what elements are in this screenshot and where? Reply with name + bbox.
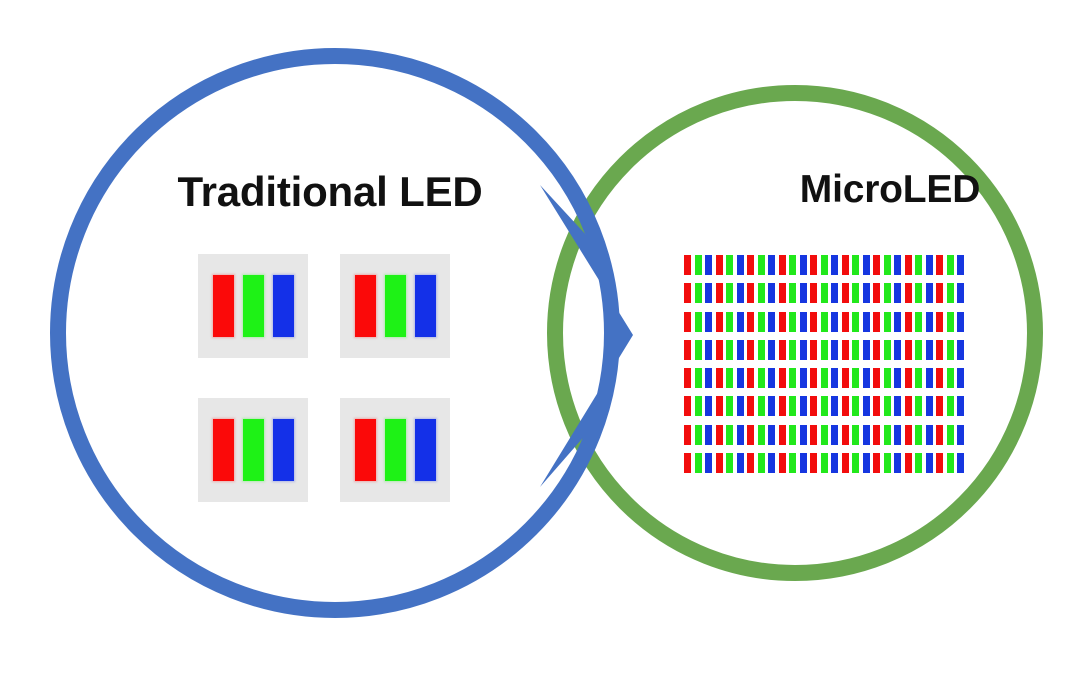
green-subpixel bbox=[852, 312, 859, 332]
red-subpixel bbox=[779, 340, 786, 360]
red-subpixel bbox=[779, 453, 786, 473]
red-subpixel bbox=[716, 425, 723, 445]
blue-subpixel bbox=[768, 425, 775, 445]
green-subpixel bbox=[726, 425, 733, 445]
microled-row bbox=[684, 312, 964, 332]
green-subpixel bbox=[821, 453, 828, 473]
microled-row bbox=[684, 368, 964, 388]
blue-subpixel bbox=[926, 453, 933, 473]
red-subpixel bbox=[873, 255, 880, 275]
blue-subpixel bbox=[863, 312, 870, 332]
pixel-block bbox=[198, 398, 308, 502]
blue-subpixel bbox=[863, 396, 870, 416]
red-subpixel bbox=[684, 312, 691, 332]
green-subpixel bbox=[758, 396, 765, 416]
blue-subpixel bbox=[863, 453, 870, 473]
blue-subpixel bbox=[957, 340, 964, 360]
red-subpixel bbox=[779, 255, 786, 275]
green-subpixel bbox=[947, 368, 954, 388]
blue-subpixel bbox=[800, 255, 807, 275]
blue-subpixel bbox=[705, 340, 712, 360]
blue-subpixel bbox=[768, 312, 775, 332]
red-subpixel bbox=[684, 255, 691, 275]
blue-subpixel bbox=[737, 340, 744, 360]
blue-subpixel bbox=[800, 283, 807, 303]
red-subpixel bbox=[684, 396, 691, 416]
green-subpixel bbox=[789, 312, 796, 332]
green-subpixel bbox=[695, 425, 702, 445]
green-subpixel bbox=[915, 453, 922, 473]
blue-subpixel bbox=[705, 453, 712, 473]
green-subpixel bbox=[758, 453, 765, 473]
green-subpixel bbox=[915, 312, 922, 332]
green-subpixel bbox=[726, 283, 733, 303]
red-subpixel bbox=[905, 312, 912, 332]
green-subpixel bbox=[789, 368, 796, 388]
green-subpixel bbox=[758, 312, 765, 332]
blue-subpixel bbox=[831, 396, 838, 416]
green-subpixel bbox=[852, 425, 859, 445]
green-subpixel bbox=[915, 340, 922, 360]
green-subpixel bbox=[947, 255, 954, 275]
blue-subpixel bbox=[705, 255, 712, 275]
blue-subpixel bbox=[926, 340, 933, 360]
green-subpixel bbox=[915, 255, 922, 275]
blue-subpixel bbox=[957, 425, 964, 445]
red-subpixel bbox=[905, 255, 912, 275]
blue-subpixel bbox=[705, 396, 712, 416]
red-subpixel bbox=[936, 425, 943, 445]
red-subpixel bbox=[936, 396, 943, 416]
green-subpixel bbox=[758, 255, 765, 275]
blue-subpixel bbox=[863, 255, 870, 275]
red-subpixel bbox=[684, 425, 691, 445]
red-subpixel bbox=[936, 368, 943, 388]
blue-subpixel bbox=[831, 255, 838, 275]
red-subpixel bbox=[873, 312, 880, 332]
red-subpixel bbox=[905, 396, 912, 416]
red-subpixel bbox=[716, 283, 723, 303]
pixel-block bbox=[198, 254, 308, 358]
red-subpixel bbox=[936, 283, 943, 303]
blue-subpixel bbox=[894, 340, 901, 360]
red-subpixel bbox=[905, 453, 912, 473]
green-subpixel bbox=[789, 453, 796, 473]
blue-subpixel bbox=[831, 283, 838, 303]
red-subpixel bbox=[747, 283, 754, 303]
red-subpixel bbox=[747, 312, 754, 332]
green-subpixel bbox=[385, 275, 406, 337]
red-subpixel bbox=[747, 255, 754, 275]
red-subpixel bbox=[747, 340, 754, 360]
blue-subpixel bbox=[768, 396, 775, 416]
green-subpixel bbox=[947, 283, 954, 303]
green-subpixel bbox=[947, 340, 954, 360]
blue-subpixel bbox=[894, 396, 901, 416]
red-subpixel bbox=[716, 453, 723, 473]
red-subpixel bbox=[905, 425, 912, 445]
red-subpixel bbox=[842, 340, 849, 360]
green-subpixel bbox=[243, 419, 264, 481]
green-subpixel bbox=[758, 368, 765, 388]
microled-row bbox=[684, 283, 964, 303]
green-subpixel bbox=[884, 283, 891, 303]
red-subpixel bbox=[684, 283, 691, 303]
green-subpixel bbox=[915, 396, 922, 416]
blue-subpixel bbox=[768, 283, 775, 303]
green-subpixel bbox=[821, 283, 828, 303]
green-subpixel bbox=[947, 312, 954, 332]
blue-subpixel bbox=[894, 368, 901, 388]
green-subpixel bbox=[758, 340, 765, 360]
green-subpixel bbox=[695, 312, 702, 332]
green-subpixel bbox=[385, 419, 406, 481]
green-subpixel bbox=[947, 425, 954, 445]
red-subpixel bbox=[936, 340, 943, 360]
red-subpixel bbox=[355, 419, 376, 481]
blue-subpixel bbox=[831, 368, 838, 388]
red-subpixel bbox=[873, 283, 880, 303]
blue-subpixel bbox=[831, 312, 838, 332]
red-subpixel bbox=[905, 368, 912, 388]
green-subpixel bbox=[821, 368, 828, 388]
green-subpixel bbox=[821, 255, 828, 275]
green-subpixel bbox=[884, 453, 891, 473]
red-subpixel bbox=[873, 425, 880, 445]
microled-row bbox=[684, 396, 964, 416]
blue-subpixel bbox=[894, 255, 901, 275]
green-subpixel bbox=[243, 275, 264, 337]
blue-subpixel bbox=[768, 453, 775, 473]
red-subpixel bbox=[810, 453, 817, 473]
blue-subpixel bbox=[737, 283, 744, 303]
red-subpixel bbox=[213, 275, 234, 337]
green-subpixel bbox=[915, 368, 922, 388]
green-subpixel bbox=[789, 255, 796, 275]
green-subpixel bbox=[852, 396, 859, 416]
green-subpixel bbox=[852, 340, 859, 360]
green-subpixel bbox=[915, 283, 922, 303]
red-subpixel bbox=[842, 255, 849, 275]
blue-subpixel bbox=[737, 312, 744, 332]
blue-subpixel bbox=[415, 275, 436, 337]
red-subpixel bbox=[747, 453, 754, 473]
red-subpixel bbox=[936, 312, 943, 332]
blue-subpixel bbox=[705, 368, 712, 388]
red-subpixel bbox=[684, 368, 691, 388]
green-subpixel bbox=[695, 255, 702, 275]
pixel-block bbox=[340, 254, 450, 358]
blue-subpixel bbox=[831, 340, 838, 360]
blue-subpixel bbox=[957, 312, 964, 332]
blue-subpixel bbox=[926, 368, 933, 388]
green-subpixel bbox=[884, 340, 891, 360]
green-subpixel bbox=[821, 396, 828, 416]
blue-subpixel bbox=[863, 368, 870, 388]
blue-subpixel bbox=[863, 283, 870, 303]
blue-subpixel bbox=[737, 453, 744, 473]
green-subpixel bbox=[821, 425, 828, 445]
blue-subpixel bbox=[926, 396, 933, 416]
red-subpixel bbox=[810, 312, 817, 332]
red-subpixel bbox=[842, 312, 849, 332]
green-subpixel bbox=[789, 425, 796, 445]
pixel-block bbox=[340, 398, 450, 502]
blue-subpixel bbox=[957, 368, 964, 388]
red-subpixel bbox=[873, 368, 880, 388]
microled-row bbox=[684, 453, 964, 473]
green-subpixel bbox=[821, 340, 828, 360]
red-subpixel bbox=[873, 396, 880, 416]
blue-subpixel bbox=[800, 425, 807, 445]
red-subpixel bbox=[747, 396, 754, 416]
blue-subpixel bbox=[957, 283, 964, 303]
red-subpixel bbox=[779, 396, 786, 416]
blue-subpixel bbox=[926, 425, 933, 445]
blue-subpixel bbox=[957, 453, 964, 473]
green-subpixel bbox=[695, 368, 702, 388]
green-subpixel bbox=[789, 396, 796, 416]
red-subpixel bbox=[213, 419, 234, 481]
blue-subpixel bbox=[768, 368, 775, 388]
red-subpixel bbox=[810, 255, 817, 275]
microled-row bbox=[684, 425, 964, 445]
green-subpixel bbox=[789, 340, 796, 360]
microled-row bbox=[684, 340, 964, 360]
red-subpixel bbox=[779, 283, 786, 303]
blue-subpixel bbox=[926, 312, 933, 332]
red-subpixel bbox=[684, 340, 691, 360]
red-subpixel bbox=[779, 312, 786, 332]
red-subpixel bbox=[810, 368, 817, 388]
red-subpixel bbox=[873, 340, 880, 360]
green-subpixel bbox=[884, 396, 891, 416]
blue-subpixel bbox=[705, 312, 712, 332]
blue-subpixel bbox=[894, 283, 901, 303]
green-subpixel bbox=[758, 425, 765, 445]
red-subpixel bbox=[810, 283, 817, 303]
blue-subpixel bbox=[705, 425, 712, 445]
diagram-canvas: Traditional LED MicroLED bbox=[0, 0, 1080, 693]
blue-subpixel bbox=[273, 275, 294, 337]
red-subpixel bbox=[905, 340, 912, 360]
green-subpixel bbox=[884, 425, 891, 445]
green-subpixel bbox=[884, 368, 891, 388]
red-subpixel bbox=[842, 396, 849, 416]
green-subpixel bbox=[695, 396, 702, 416]
green-subpixel bbox=[884, 312, 891, 332]
blue-subpixel bbox=[737, 255, 744, 275]
green-subpixel bbox=[726, 255, 733, 275]
red-subpixel bbox=[747, 368, 754, 388]
green-subpixel bbox=[852, 283, 859, 303]
blue-subpixel bbox=[926, 255, 933, 275]
blue-subpixel bbox=[800, 396, 807, 416]
red-subpixel bbox=[355, 275, 376, 337]
blue-subpixel bbox=[415, 419, 436, 481]
green-subpixel bbox=[726, 453, 733, 473]
blue-subpixel bbox=[737, 368, 744, 388]
green-subpixel bbox=[947, 396, 954, 416]
red-subpixel bbox=[716, 368, 723, 388]
blue-subpixel bbox=[737, 396, 744, 416]
green-subpixel bbox=[789, 283, 796, 303]
red-subpixel bbox=[684, 453, 691, 473]
green-subpixel bbox=[852, 368, 859, 388]
red-subpixel bbox=[716, 340, 723, 360]
red-subpixel bbox=[842, 368, 849, 388]
traditional-pixel-grid bbox=[198, 254, 450, 502]
traditional-led-label: Traditional LED bbox=[0, 168, 660, 216]
blue-subpixel bbox=[831, 453, 838, 473]
blue-subpixel bbox=[831, 425, 838, 445]
red-subpixel bbox=[810, 340, 817, 360]
blue-subpixel bbox=[957, 255, 964, 275]
blue-subpixel bbox=[800, 368, 807, 388]
green-subpixel bbox=[726, 368, 733, 388]
blue-subpixel bbox=[800, 312, 807, 332]
blue-subpixel bbox=[737, 425, 744, 445]
blue-subpixel bbox=[768, 255, 775, 275]
green-subpixel bbox=[695, 340, 702, 360]
green-subpixel bbox=[947, 453, 954, 473]
red-subpixel bbox=[842, 453, 849, 473]
blue-subpixel bbox=[894, 425, 901, 445]
blue-subpixel bbox=[273, 419, 294, 481]
green-subpixel bbox=[884, 255, 891, 275]
red-subpixel bbox=[810, 396, 817, 416]
blue-subpixel bbox=[894, 312, 901, 332]
blue-subpixel bbox=[926, 283, 933, 303]
microled-pixel-grid bbox=[684, 255, 964, 473]
green-subpixel bbox=[852, 255, 859, 275]
green-subpixel bbox=[821, 312, 828, 332]
blue-subpixel bbox=[800, 453, 807, 473]
red-subpixel bbox=[779, 368, 786, 388]
red-subpixel bbox=[905, 283, 912, 303]
green-subpixel bbox=[915, 425, 922, 445]
red-subpixel bbox=[716, 255, 723, 275]
red-subpixel bbox=[779, 425, 786, 445]
blue-subpixel bbox=[863, 425, 870, 445]
red-subpixel bbox=[747, 425, 754, 445]
red-subpixel bbox=[842, 283, 849, 303]
green-subpixel bbox=[726, 396, 733, 416]
red-subpixel bbox=[716, 396, 723, 416]
red-subpixel bbox=[936, 255, 943, 275]
red-subpixel bbox=[873, 453, 880, 473]
blue-subpixel bbox=[705, 283, 712, 303]
blue-subpixel bbox=[894, 453, 901, 473]
green-subpixel bbox=[726, 312, 733, 332]
green-subpixel bbox=[758, 283, 765, 303]
green-subpixel bbox=[695, 453, 702, 473]
red-subpixel bbox=[810, 425, 817, 445]
blue-subpixel bbox=[800, 340, 807, 360]
red-subpixel bbox=[842, 425, 849, 445]
microled-row bbox=[684, 255, 964, 275]
blue-subpixel bbox=[957, 396, 964, 416]
red-subpixel bbox=[936, 453, 943, 473]
microled-label: MicroLED bbox=[620, 168, 1080, 212]
blue-subpixel bbox=[768, 340, 775, 360]
green-subpixel bbox=[695, 283, 702, 303]
green-subpixel bbox=[852, 453, 859, 473]
red-subpixel bbox=[716, 312, 723, 332]
blue-subpixel bbox=[863, 340, 870, 360]
green-subpixel bbox=[726, 340, 733, 360]
